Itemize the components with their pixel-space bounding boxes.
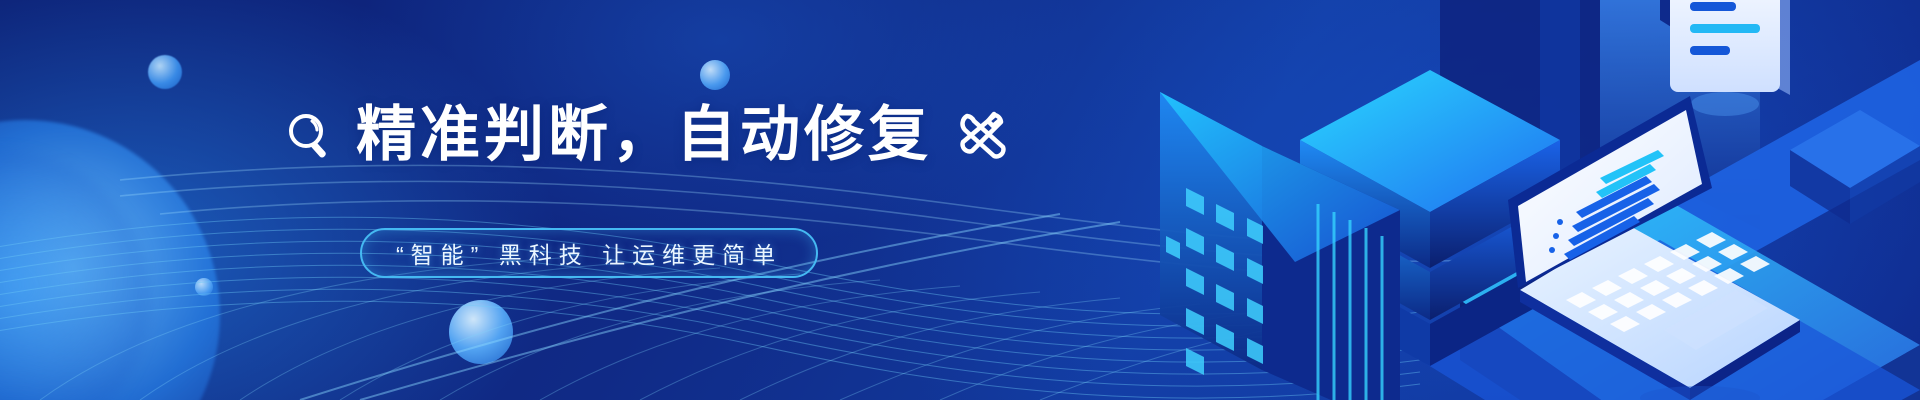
subtitle-pill: “智能” 黑科技 让运维更简单 xyxy=(360,228,818,278)
headline-block: 精准判断，自动修复 xyxy=(282,104,1012,166)
wrench-screwdriver-icon xyxy=(950,104,1012,166)
magnifier-icon xyxy=(282,107,338,163)
headline-text: 精准判断，自动修复 xyxy=(356,105,932,165)
subtitle-text: “智能” 黑科技 让运维更简单 xyxy=(396,236,782,270)
hero-banner: 精准判断，自动修复 “智能” 黑科技 让运维更简单 xyxy=(0,0,1920,400)
isometric-illustration xyxy=(0,0,1920,400)
